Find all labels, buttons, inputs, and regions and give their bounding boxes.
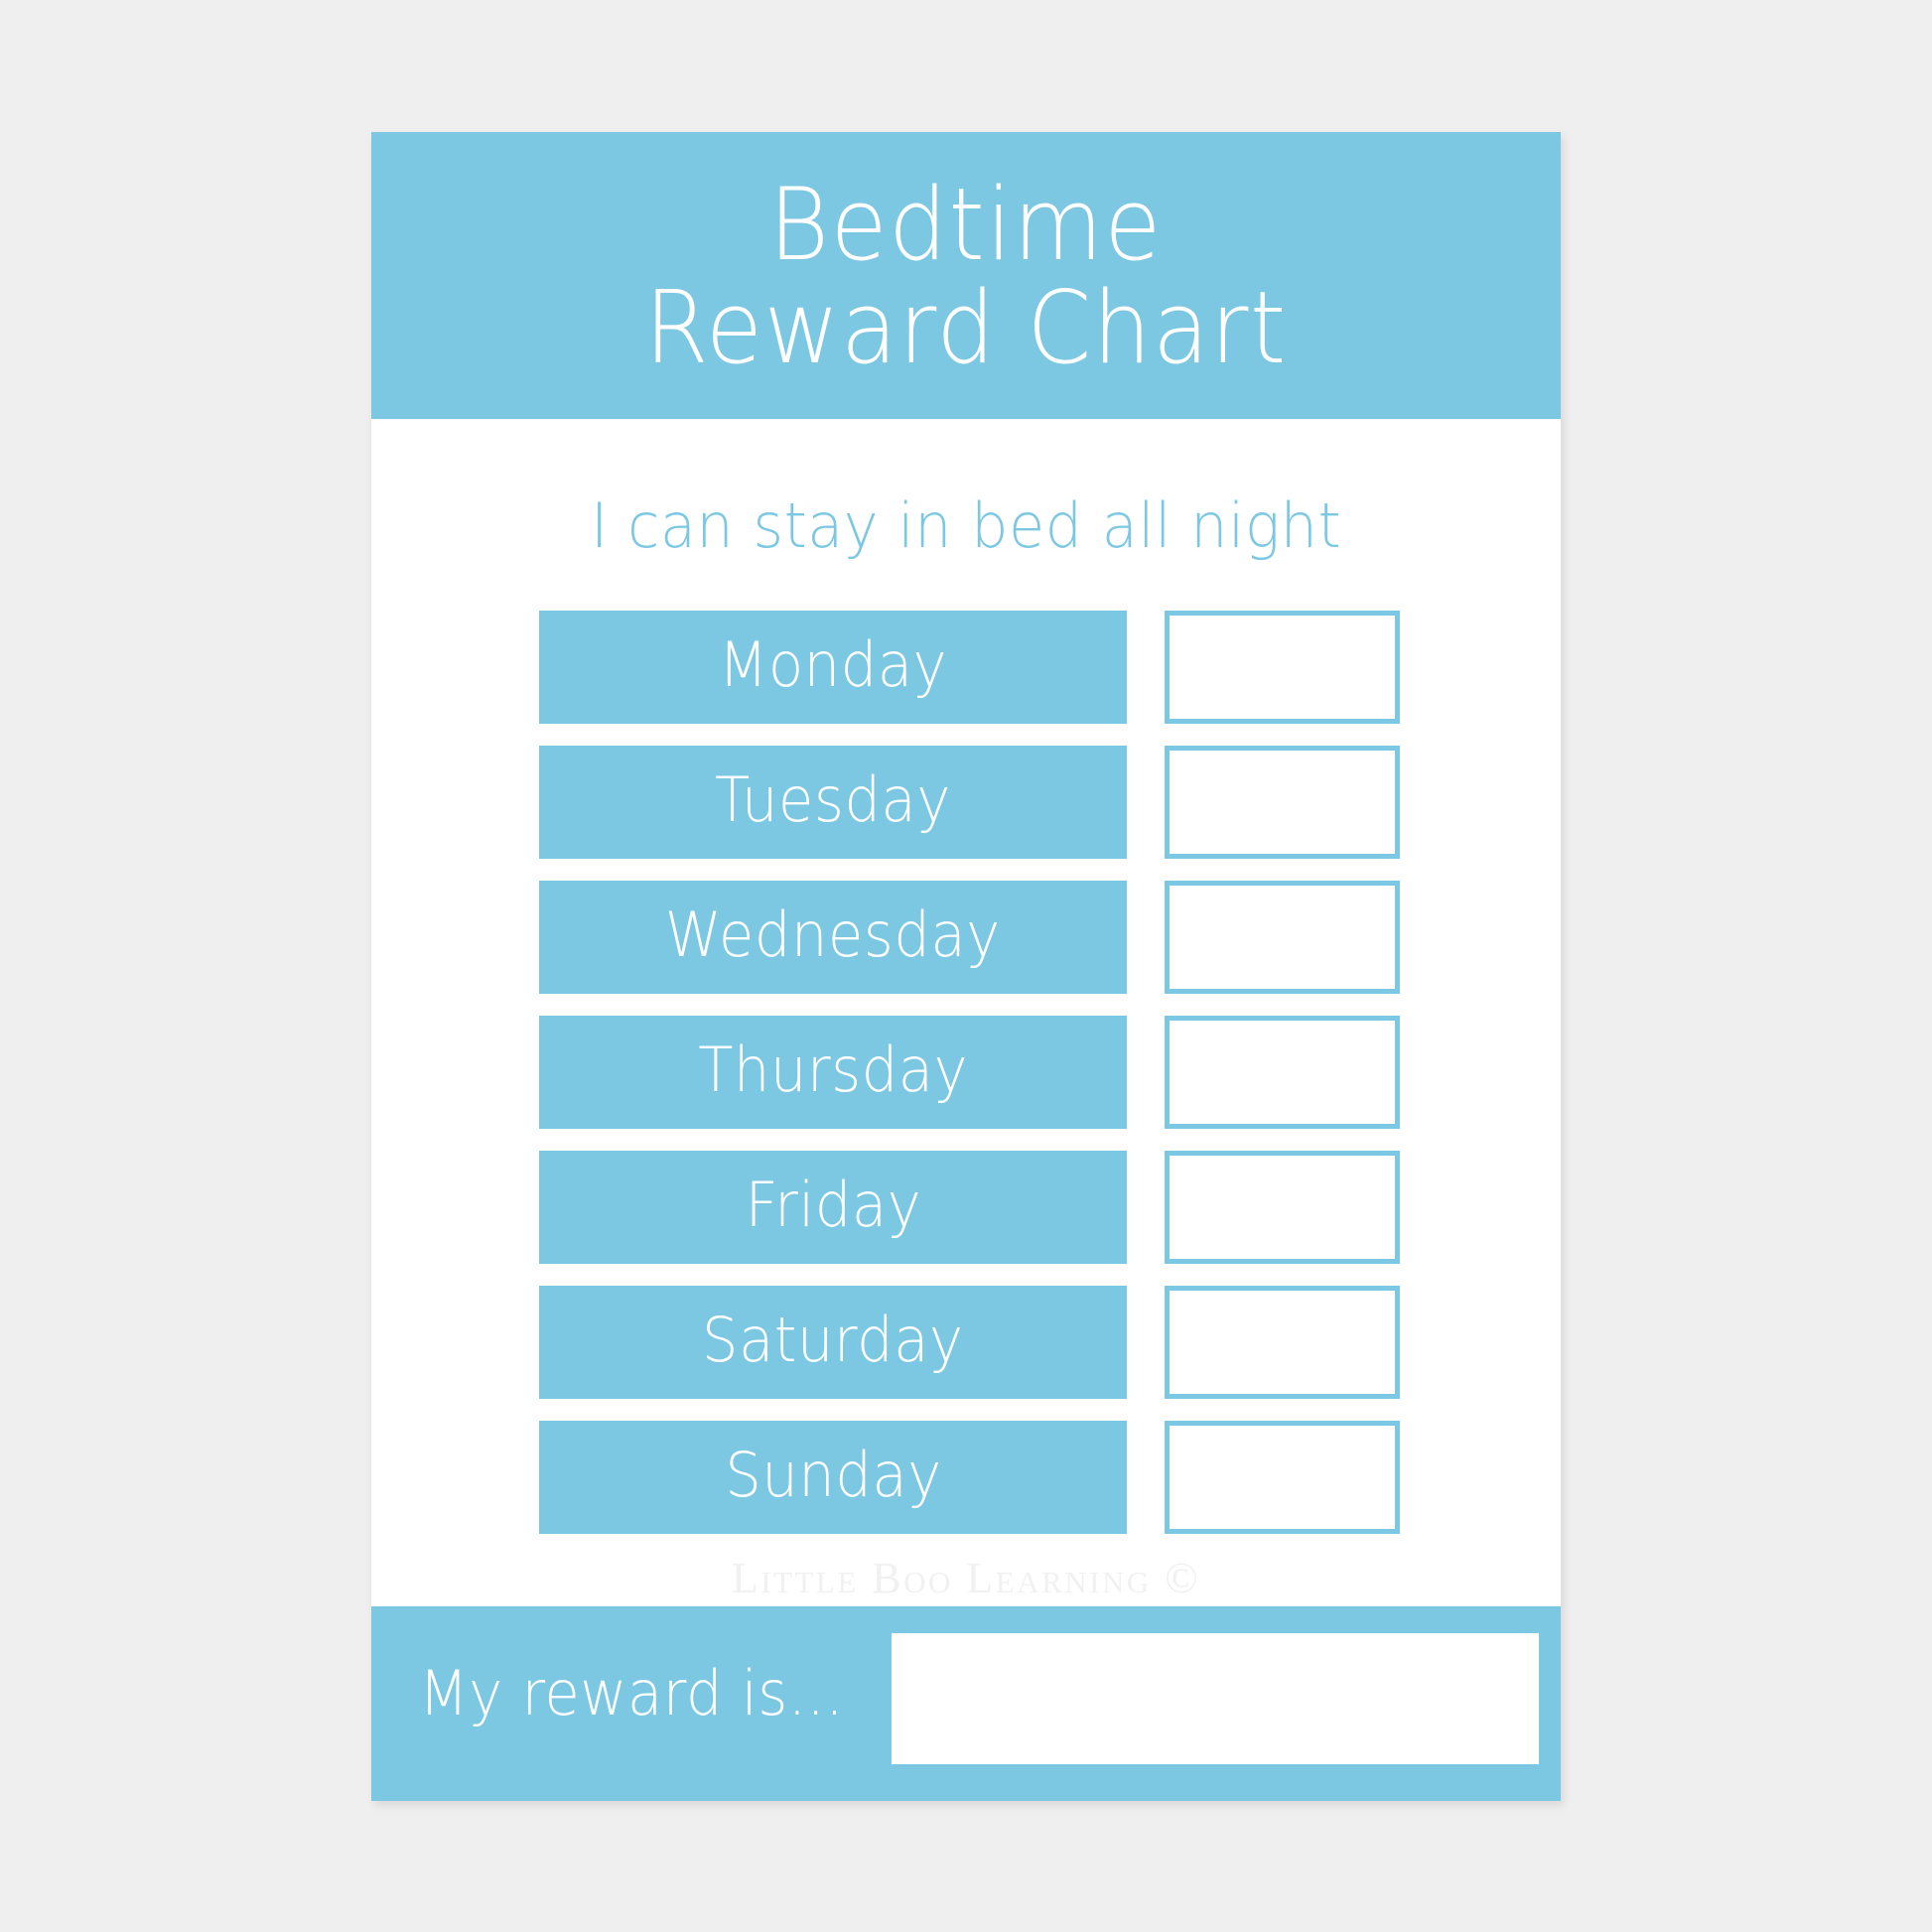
day-row-wednesday: Wednesday xyxy=(371,881,1561,994)
day-bar-monday: Monday xyxy=(539,611,1127,724)
day-row-tuesday: Tuesday xyxy=(371,746,1561,859)
reward-input-field[interactable] xyxy=(892,1633,1539,1764)
day-bar-thursday: Thursday xyxy=(539,1016,1127,1129)
sticker-box-monday[interactable] xyxy=(1165,611,1400,724)
day-label-wednesday: Wednesday xyxy=(665,904,1001,966)
day-row-friday: Friday xyxy=(371,1151,1561,1264)
page-title-line-1: Bedtime xyxy=(769,175,1164,274)
sticker-box-sunday[interactable] xyxy=(1165,1421,1400,1534)
day-row-monday: Monday xyxy=(371,611,1561,724)
day-label-monday: Monday xyxy=(719,634,947,696)
day-row-thursday: Thursday xyxy=(371,1016,1561,1129)
day-bar-tuesday: Tuesday xyxy=(539,746,1127,859)
day-label-tuesday: Tuesday xyxy=(715,769,951,831)
day-bar-wednesday: Wednesday xyxy=(539,881,1127,994)
reward-chart-card: Bedtime Reward Chart I can stay in bed a… xyxy=(371,132,1561,1801)
watermark-little-boo-learning: Little Boo Learning © xyxy=(371,1553,1561,1603)
day-label-thursday: Thursday xyxy=(698,1039,968,1101)
day-row-saturday: Saturday xyxy=(371,1286,1561,1399)
chart-subtitle: I can stay in bed all night xyxy=(401,495,1531,557)
day-label-sunday: Sunday xyxy=(725,1445,942,1506)
sticker-box-friday[interactable] xyxy=(1165,1151,1400,1264)
day-bar-friday: Friday xyxy=(539,1151,1127,1264)
reward-label: My reward is... xyxy=(389,1663,873,1725)
day-bar-saturday: Saturday xyxy=(539,1286,1127,1399)
day-row-sunday: Sunday xyxy=(371,1421,1561,1534)
sticker-box-saturday[interactable] xyxy=(1165,1286,1400,1399)
day-bar-sunday: Sunday xyxy=(539,1421,1127,1534)
sticker-box-wednesday[interactable] xyxy=(1165,881,1400,994)
sticker-box-tuesday[interactable] xyxy=(1165,746,1400,859)
sticker-box-thursday[interactable] xyxy=(1165,1016,1400,1129)
day-label-saturday: Saturday xyxy=(702,1310,964,1371)
chart-header: Bedtime Reward Chart xyxy=(371,132,1561,419)
chart-footer: My reward is... xyxy=(371,1606,1561,1801)
page-title-line-2: Reward Chart xyxy=(644,278,1287,377)
days-list: Monday Tuesday Wednesday Thursday Friday xyxy=(371,611,1561,1556)
day-label-friday: Friday xyxy=(745,1174,921,1236)
